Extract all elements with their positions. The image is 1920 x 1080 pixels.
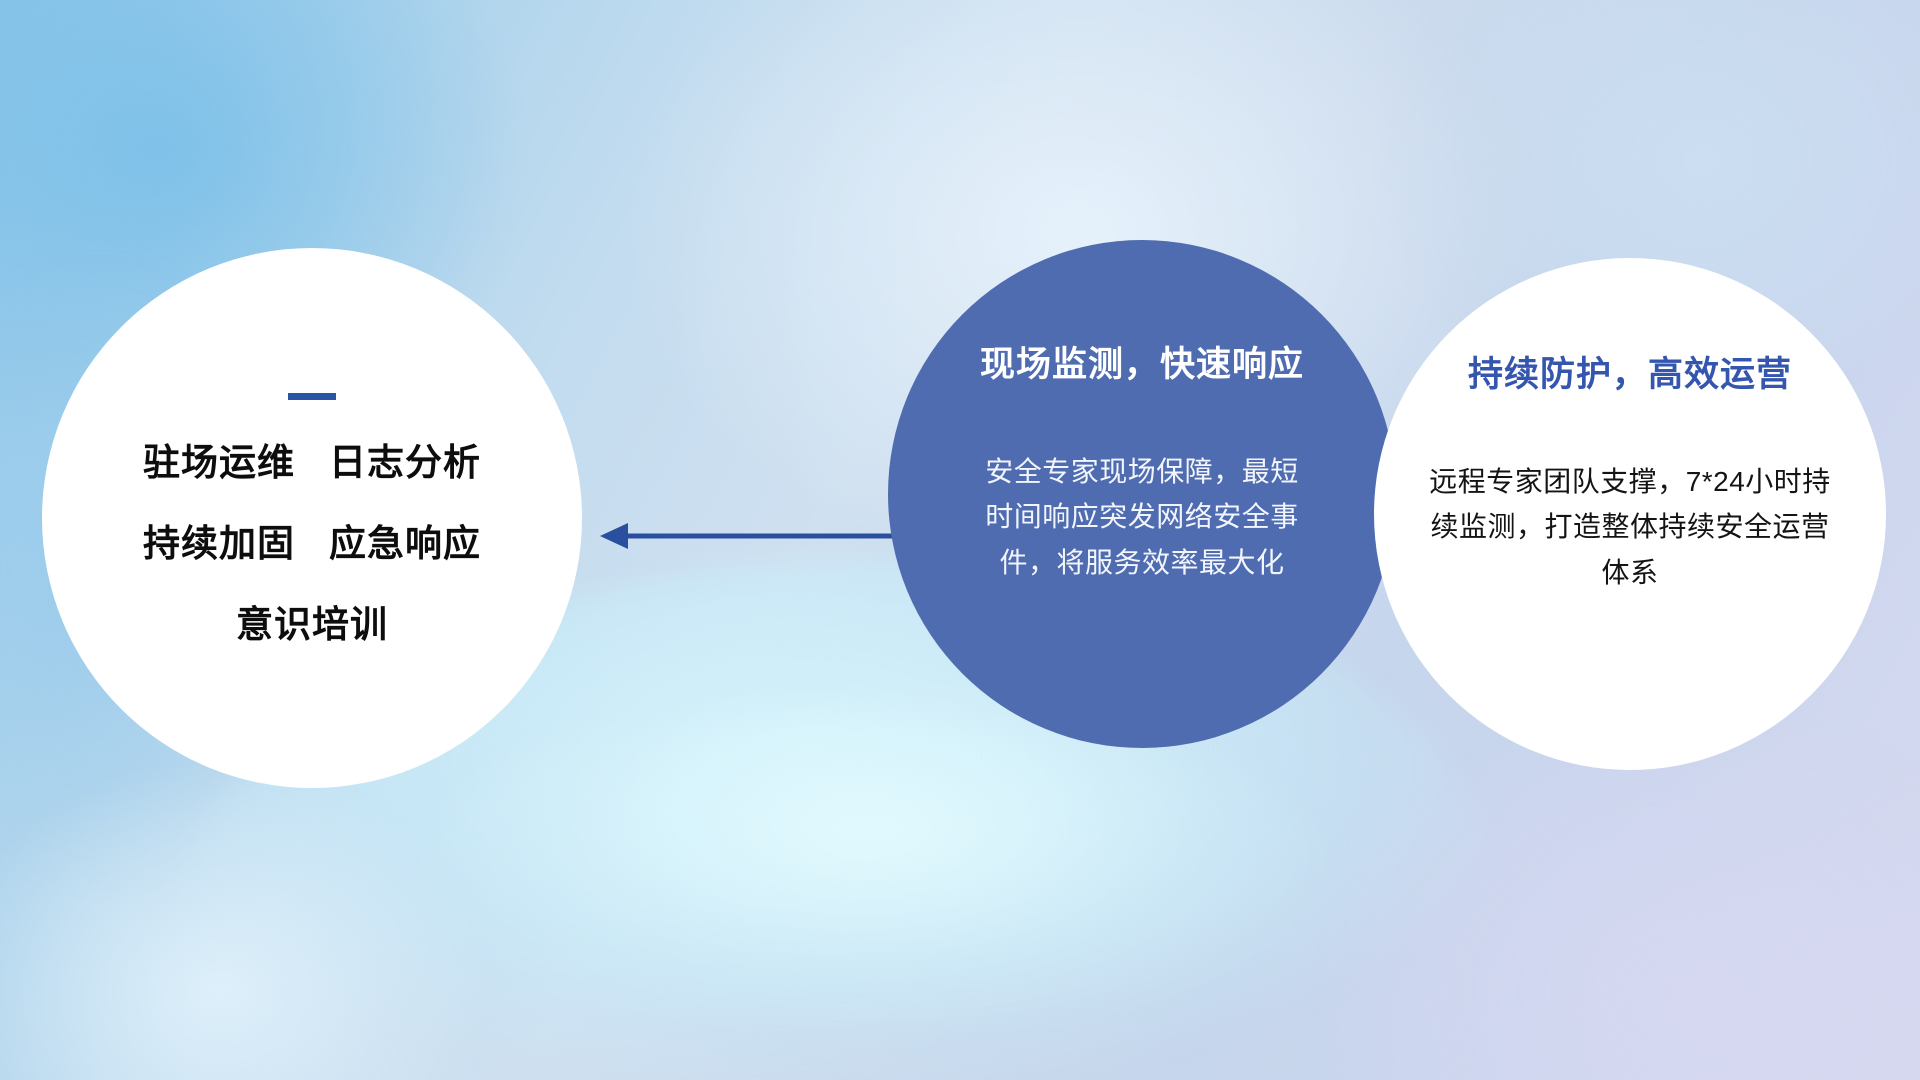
circle-continuous-protection: 持续防护，高效运营 远程专家团队支撑，7*24小时持续监测，打造整体持续安全运营… <box>1374 258 1886 770</box>
circle-continuous-protection-body: 远程专家团队支撑，7*24小时持续监测，打造整体持续安全运营体系 <box>1420 459 1840 595</box>
keyword-item: 日志分析 <box>329 444 481 481</box>
accent-dash-decoration <box>288 393 336 400</box>
keyword-row-2: 持续加固 应急响应 <box>143 525 481 562</box>
circle-service-keywords: 驻场运维 日志分析 持续加固 应急响应 意识培训 <box>42 248 582 788</box>
flow-arrow-left <box>596 512 896 560</box>
diagram-canvas: 现场监测，快速响应 安全专家现场保障，最短时间响应突发网络安全事件，将服务效率最… <box>0 0 1920 1080</box>
keyword-row-1: 驻场运维 日志分析 <box>143 444 481 481</box>
circle-continuous-protection-title: 持续防护，高效运营 <box>1468 346 1792 397</box>
keyword-item: 驻场运维 <box>143 444 295 481</box>
keyword-item: 持续加固 <box>143 525 295 562</box>
keyword-item: 应急响应 <box>329 525 481 562</box>
keyword-row-3: 意识培训 <box>236 606 388 643</box>
circle-onsite-monitoring-body: 安全专家现场保障，最短时间响应突发网络安全事件，将服务效率最大化 <box>977 449 1307 585</box>
keyword-item: 意识培训 <box>236 606 388 643</box>
circle-onsite-monitoring-title: 现场监测，快速响应 <box>980 336 1304 387</box>
arrow-left-icon <box>596 512 896 560</box>
circle-onsite-monitoring: 现场监测，快速响应 安全专家现场保障，最短时间响应突发网络安全事件，将服务效率最… <box>888 240 1396 748</box>
